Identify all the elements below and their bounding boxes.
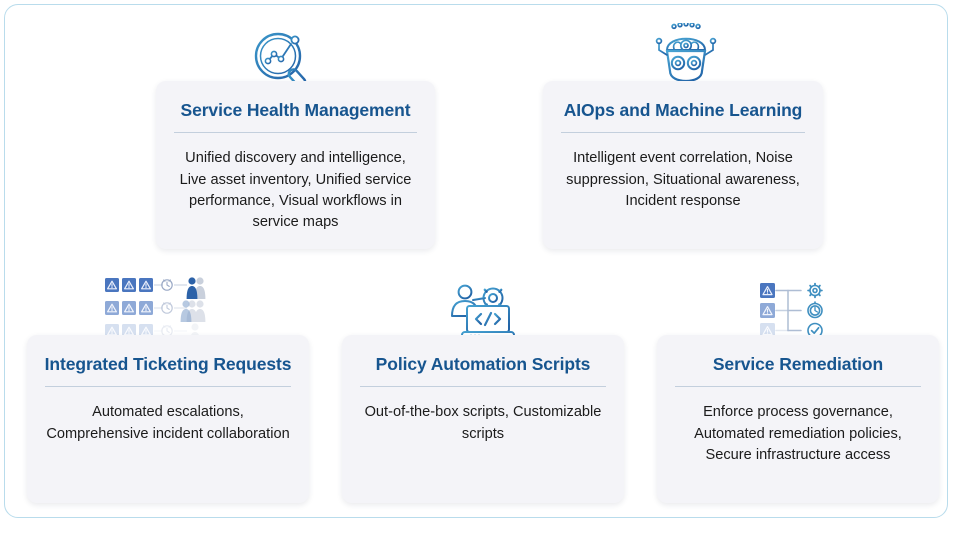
card-divider (45, 386, 291, 387)
card-body: Out-of-the-box scripts, Customizable scr… (358, 402, 608, 444)
card-title: Service Remediation (673, 353, 923, 375)
card-divider (675, 386, 921, 387)
card-divider (360, 386, 606, 387)
card-body: Enforce process governance, Automated re… (673, 402, 923, 465)
card-body: Intelligent event correlation, Noise sup… (559, 148, 807, 211)
card-title: Integrated Ticketing Requests (43, 353, 293, 375)
card-divider (561, 132, 805, 133)
card-title: Service Health Management (172, 99, 419, 121)
feature-card-service-remediation[interactable]: Service Remediation Enforce process gove… (657, 335, 939, 503)
card-title: Policy Automation Scripts (358, 353, 608, 375)
card-body: Automated escalations, Comprehensive inc… (43, 402, 293, 444)
feature-card-aiops-and-machine-learning[interactable]: AIOps and Machine Learning Intelligent e… (543, 81, 823, 249)
feature-card-policy-automation-scripts[interactable]: Policy Automation Scripts Out-of-the-box… (342, 335, 624, 503)
card-title: AIOps and Machine Learning (559, 99, 807, 121)
feature-card-integrated-ticketing-requests[interactable]: Integrated Ticketing Requests Automated … (27, 335, 309, 503)
card-body: Unified discovery and intelligence, Live… (172, 148, 419, 233)
diagram-frame: Service Health Management Unified discov… (4, 4, 948, 518)
feature-card-service-health-management[interactable]: Service Health Management Unified discov… (156, 81, 435, 249)
card-divider (174, 132, 417, 133)
alert-workflow-check-icon (757, 281, 839, 339)
